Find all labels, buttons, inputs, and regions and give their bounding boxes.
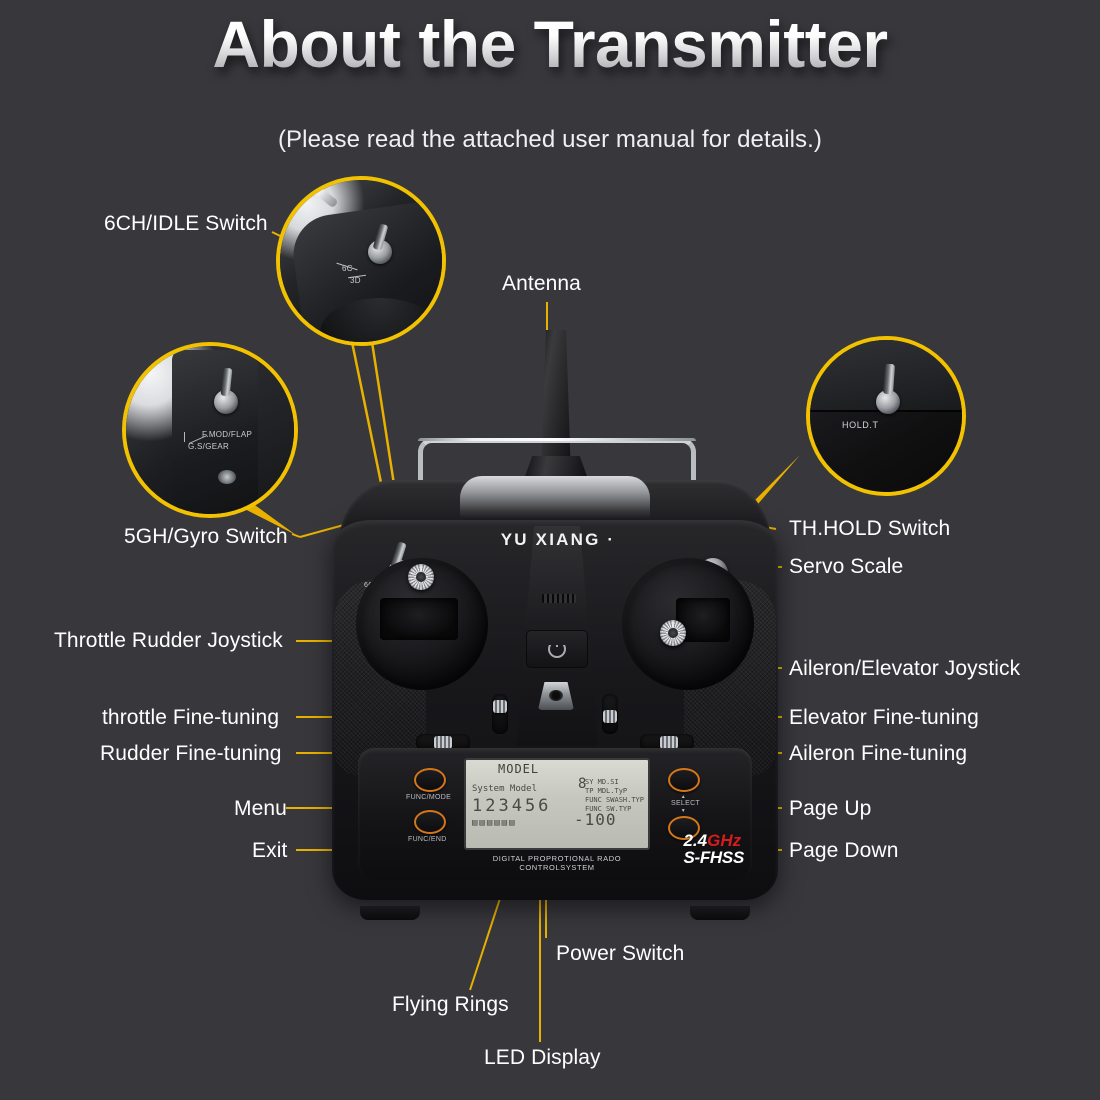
speaker-vent (542, 594, 576, 603)
page-root: About the Transmitter (Please read the a… (0, 0, 1100, 1100)
label-throttle-fine-tuning: throttle Fine-tuning (102, 706, 279, 730)
page-subtitle: (Please read the attached user manual fo… (0, 126, 1100, 154)
label-rudder-fine-tuning: Rudder Fine-tuning (100, 742, 282, 766)
aileron-elevator-joystick[interactable] (660, 620, 686, 646)
label-servo-scale: Servo Scale (789, 555, 903, 579)
label-th-hold-switch: TH.HOLD Switch (789, 517, 950, 541)
label-menu: Menu (234, 797, 287, 821)
label-aileron-elevator-joystick: Aileron/Elevator Joystick (789, 657, 1020, 681)
magnifier-6ch-idle: 6C 3D (276, 176, 446, 346)
label-page-up: Page Up (789, 797, 871, 821)
foot-right (690, 906, 750, 920)
throttle-rudder-joystick[interactable] (408, 564, 434, 590)
lcd-side-lines: SY MD.SI TP MDL.TyP FUNC SWASH.TYP FUNC … (585, 778, 644, 814)
label-antenna: Antenna (502, 272, 581, 296)
protocol-name: S-FHSS (683, 849, 744, 866)
led-display: MODEL 8 System Model 123456 ▤▤▤▤▤▤ -100 … (464, 758, 650, 850)
select-caption: SELECT (671, 800, 700, 807)
label-power-switch: Power Switch (556, 942, 684, 966)
switch-mark-fmod-flap: F.MOD/FLAP (202, 430, 252, 439)
lcd-title: MODEL (498, 762, 539, 776)
lcd-channels: 123456 (472, 796, 551, 816)
label-exit: Exit (252, 839, 287, 863)
page-up-button[interactable] (668, 768, 700, 792)
lcd-bars: ▤▤▤▤▤▤ (472, 818, 517, 828)
label-page-down: Page Down (789, 839, 898, 863)
lcd-system: System Model (472, 784, 537, 794)
frequency-badge: 2.4GHz S-FHSS (683, 832, 744, 866)
label-throttle-rudder-joystick: Throttle Rudder Joystick (54, 629, 283, 653)
page-title: About the Transmitter (0, 8, 1100, 82)
mag-toggle-lever-3 (883, 364, 895, 395)
magnifier-th-hold: HOLD.T (806, 336, 966, 496)
switch-mark-hold-t: HOLD.T (842, 420, 879, 430)
brand-logo: YU XIANG · (468, 530, 648, 550)
select-down-arrow: ▼ (681, 808, 686, 814)
label-5gh-gyro-switch: 5GH/Gyro Switch (124, 525, 288, 549)
transmitter-illustration: YU XIANG · 6C 3D H/L (320, 330, 790, 910)
label-6ch-idle-switch: 6CH/IDLE Switch (104, 212, 268, 236)
exit-button[interactable] (414, 810, 446, 834)
menu-button-caption: FUNC/MODE (406, 794, 451, 801)
magnifier-5gh-gyro: F.MOD/FLAP G.S/GEAR (122, 342, 298, 518)
label-aileron-fine-tuning: Aileron Fine-tuning (789, 742, 967, 766)
throttle-fine-tuning-trim[interactable] (492, 694, 508, 734)
label-flying-rings: Flying Rings (392, 993, 509, 1017)
exit-button-caption: FUNC/END (408, 836, 447, 843)
top-cover (460, 476, 650, 520)
menu-button[interactable] (414, 768, 446, 792)
switch-mark-gs-gear: G.S/GEAR (188, 442, 229, 451)
elevator-fine-tuning-trim[interactable] (602, 694, 618, 734)
label-elevator-fine-tuning: Elevator Fine-tuning (789, 706, 979, 730)
console-panel: MODEL 8 System Model 123456 ▤▤▤▤▤▤ -100 … (358, 748, 752, 880)
label-led-display: LED Display (484, 1046, 601, 1070)
lcd-footer-text: DIGITAL PROPROTIONAL RADO CONTROLSYSTEM (464, 854, 650, 872)
foot-left (360, 906, 420, 920)
gate-left (380, 598, 458, 640)
